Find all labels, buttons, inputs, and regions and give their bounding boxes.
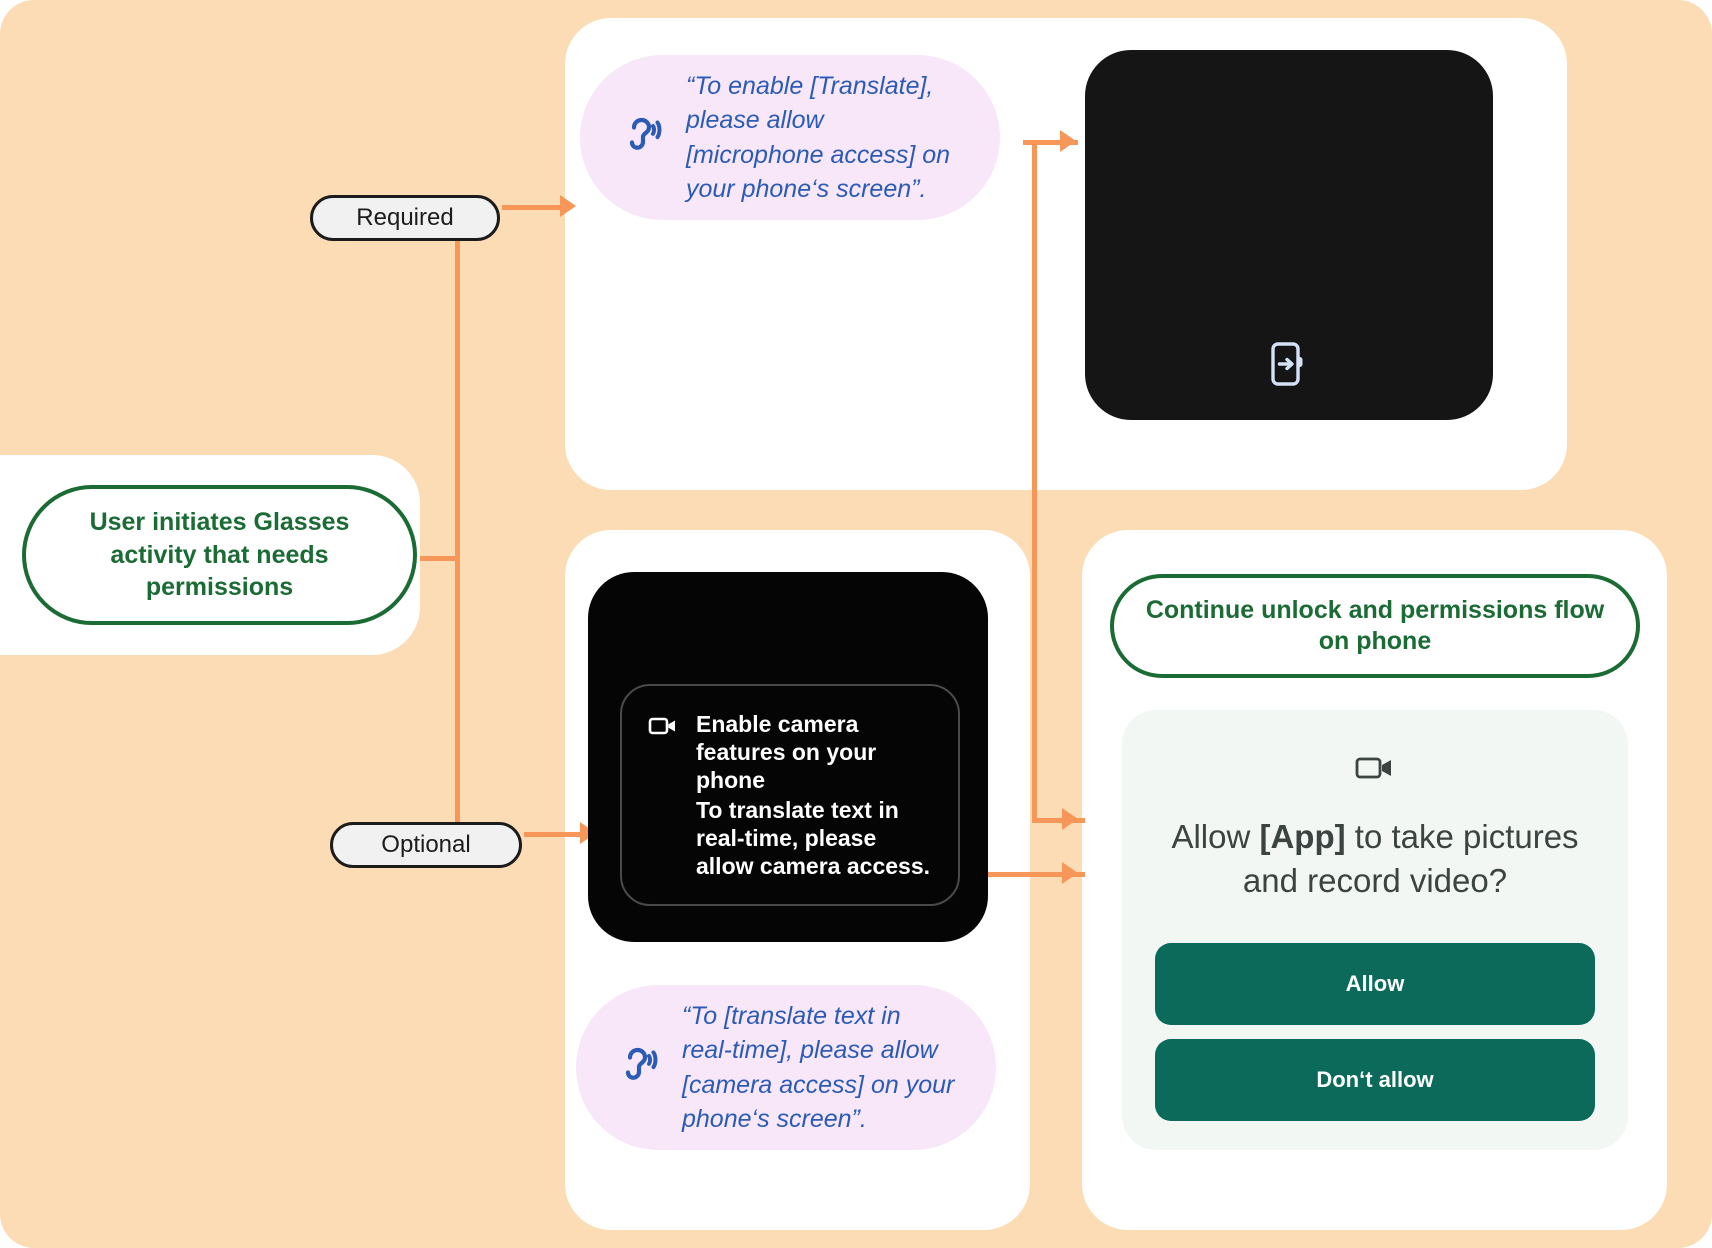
glasses-notification-title: Enable camera features on your phone [696,710,932,794]
start-node: User initiates Glasses activity that nee… [22,485,417,625]
glasses-notification-body: To translate text in real-time, please a… [696,796,932,880]
speech-bubble-camera-text: “To [translate text in real-time], pleas… [682,999,956,1137]
glasses-display-optional: Enable camera features on your phone To … [588,572,988,942]
branch-chip-required-label: Required [356,204,453,232]
branch-chip-optional-label: Optional [381,831,470,859]
dont-allow-button[interactable]: Don‘t allow [1155,1039,1595,1121]
allow-button[interactable]: Allow [1155,943,1595,1025]
branch-chip-required[interactable]: Required [310,195,500,241]
diagram-canvas: User initiates Glasses activity that nee… [0,0,1712,1248]
branch-chip-optional[interactable]: Optional [330,822,522,868]
phone-with-arrow-icon [1270,341,1308,392]
connector-optional [524,832,584,837]
glasses-notification-card: Enable camera features on your phone To … [620,684,960,906]
arrowhead-mic-to-glasses [1060,130,1076,152]
video-camera-icon [1355,752,1395,789]
connector-start-to-spine [420,556,458,561]
allow-button-label: Allow [1346,971,1405,997]
glasses-display-required [1085,50,1493,420]
start-node-label: User initiates Glasses activity that nee… [26,506,413,604]
speech-bubble-microphone: “To enable [Translate], please allow [mi… [580,55,1000,220]
connector-required [502,205,562,210]
permission-dialog: Allow [App] to take pictures and record … [1122,710,1628,1150]
video-camera-icon [648,710,678,744]
arrowhead-required [560,195,576,217]
arrowhead-camera-to-phone [1062,862,1078,884]
speech-bubble-camera: “To [translate text in real-time], pleas… [576,985,996,1150]
speech-bubble-microphone-text: “To enable [Translate], please allow [mi… [686,69,960,207]
continue-flow-node: Continue unlock and permissions flow on … [1110,574,1640,678]
ear-listening-icon [616,1043,660,1092]
permission-question-prefix: Allow [1171,818,1259,855]
connector-spine [455,218,460,845]
permission-dialog-question: Allow [App] to take pictures and record … [1158,815,1592,903]
dont-allow-button-label: Don‘t allow [1316,1067,1433,1093]
arrowhead-drop-to-phone [1062,808,1078,830]
ear-listening-icon [620,113,664,162]
connector-drop-to-phone [1032,140,1037,820]
permission-question-app: [App] [1259,818,1345,855]
continue-flow-node-label: Continue unlock and permissions flow on … [1114,595,1636,658]
